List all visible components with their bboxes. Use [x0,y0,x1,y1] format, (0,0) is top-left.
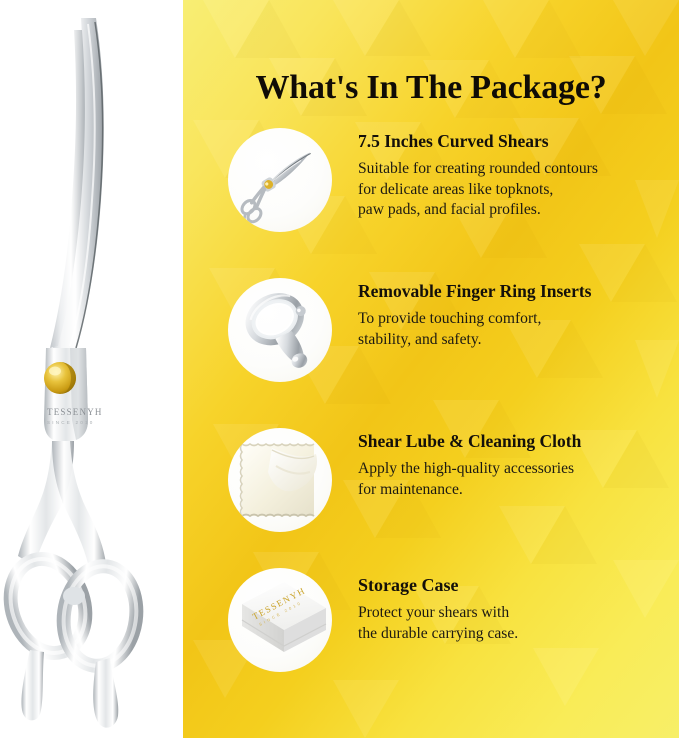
feature-description: Suitable for creating rounded contours f… [358,159,676,221]
finger-ring-insert-icon [228,278,332,382]
feature-text-block: Shear Lube & Cleaning Cloth Apply the hi… [358,430,676,500]
hero-engraving-brand: TESSENYH [47,407,103,417]
hero-engraving-sub: SINCE 2010 [47,420,95,425]
curved-shears-icon [228,128,332,232]
package-contents-panel: What's In The Package? [183,0,679,738]
feature-text-block: 7.5 Inches Curved Shears Suitable for cr… [358,130,676,221]
feature-description: Apply the high-quality accessories for m… [358,459,676,500]
feature-heading: Storage Case [358,574,676,596]
curved-grooming-shears-hero-image: TESSENYH SINCE 2010 [0,0,183,738]
feature-text-block: Removable Finger Ring Inserts To provide… [358,280,676,350]
feature-heading: Removable Finger Ring Inserts [358,280,676,302]
storage-case-icon: TESSENYH SINCE 2010 [228,568,332,672]
shear-finger-rest-left [21,650,44,720]
feature-description: To provide touching comfort, stability, … [358,309,676,350]
shear-finger-rest-right [93,658,118,728]
package-contents-infographic: TESSENYH SINCE 2010 [0,0,679,738]
feature-text-block: Storage Case Protect your shears with th… [358,574,676,644]
hero-product-panel: TESSENYH SINCE 2010 [0,0,183,738]
cleaning-cloth-icon [228,428,332,532]
feature-heading: Shear Lube & Cleaning Cloth [358,430,676,452]
feature-description: Protect your shears with the durable car… [358,603,676,644]
feature-heading: 7.5 Inches Curved Shears [358,130,676,152]
page-title: What's In The Package? [183,69,679,107]
